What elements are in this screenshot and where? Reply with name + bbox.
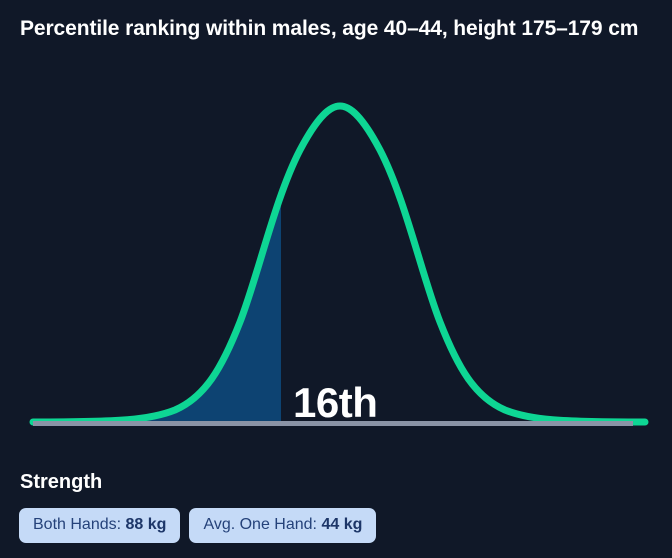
percentile-card: Percentile ranking within males, age 40–… xyxy=(0,0,672,558)
strength-badge-row: Both Hands: 88 kg Avg. One Hand: 44 kg xyxy=(19,508,376,543)
badge-both-hands-value: 88 kg xyxy=(126,516,167,533)
badge-avg-one-hand-value: 44 kg xyxy=(321,516,362,533)
percentile-shaded-area xyxy=(33,106,645,422)
page-title: Percentile ranking within males, age 40–… xyxy=(20,14,640,44)
badge-both-hands-label: Both Hands: xyxy=(33,516,121,533)
normal-distribution-curve xyxy=(33,106,645,422)
badge-avg-one-hand[interactable]: Avg. One Hand: 44 kg xyxy=(189,508,376,543)
badge-avg-one-hand-label: Avg. One Hand: xyxy=(203,516,317,533)
strength-section-heading: Strength xyxy=(20,469,102,495)
badge-both-hands[interactable]: Both Hands: 88 kg xyxy=(19,508,180,543)
percentile-value-label: 16th xyxy=(293,378,377,428)
distribution-chart: 16th xyxy=(0,100,672,440)
